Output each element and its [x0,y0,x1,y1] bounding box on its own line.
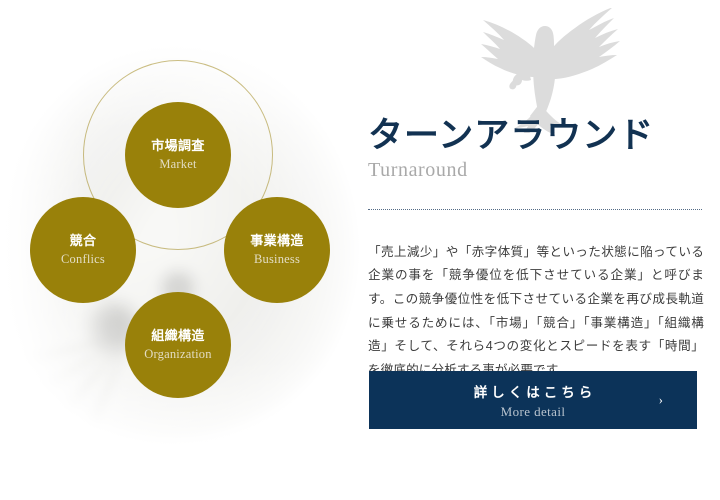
node-label-en: Business [254,252,300,266]
page-subtitle: Turnaround [368,159,712,182]
chevron-right-icon: › [659,392,663,408]
cta-label-jp: 詳しくはこちら [470,381,597,401]
page-title: ターンアラウンド [368,118,712,155]
diagram-node-conflicts[interactable]: 競合 Conflics [30,197,136,303]
cta-label-group: 詳しくはこちら More detail [369,371,697,429]
node-label-en: Conflics [61,252,105,266]
more-detail-button[interactable]: 詳しくはこちら More detail › [369,371,697,429]
node-label-en: Market [159,157,196,171]
dotted-divider [368,209,702,210]
node-label-jp: 事業構造 [250,234,304,249]
node-label-jp: 組織構造 [151,329,205,344]
node-label-jp: 競合 [70,234,97,249]
turnaround-section: 市場調査 Market 競合 Conflics 事業構造 Business 組織… [0,0,720,500]
content-panel: ターンアラウンド Turnaround 「売上減少」や「赤字体質」等といった状態… [360,0,720,500]
eagle-icon [445,8,655,133]
diagram-node-business[interactable]: 事業構造 Business [224,197,330,303]
hero-headings: ターンアラウンド Turnaround [368,118,712,182]
node-label-en: Organization [144,347,211,361]
body-paragraph: 「売上減少」や「赤字体質」等といった状態に陥っている企業の事を「競争優位を低下さ… [368,241,704,383]
cta-label-en: More detail [501,404,566,420]
diagram-node-market[interactable]: 市場調査 Market [125,102,231,208]
node-label-jp: 市場調査 [151,139,205,154]
diagram-panel: 市場調査 Market 競合 Conflics 事業構造 Business 組織… [0,0,360,500]
diagram-node-organization[interactable]: 組織構造 Organization [125,292,231,398]
